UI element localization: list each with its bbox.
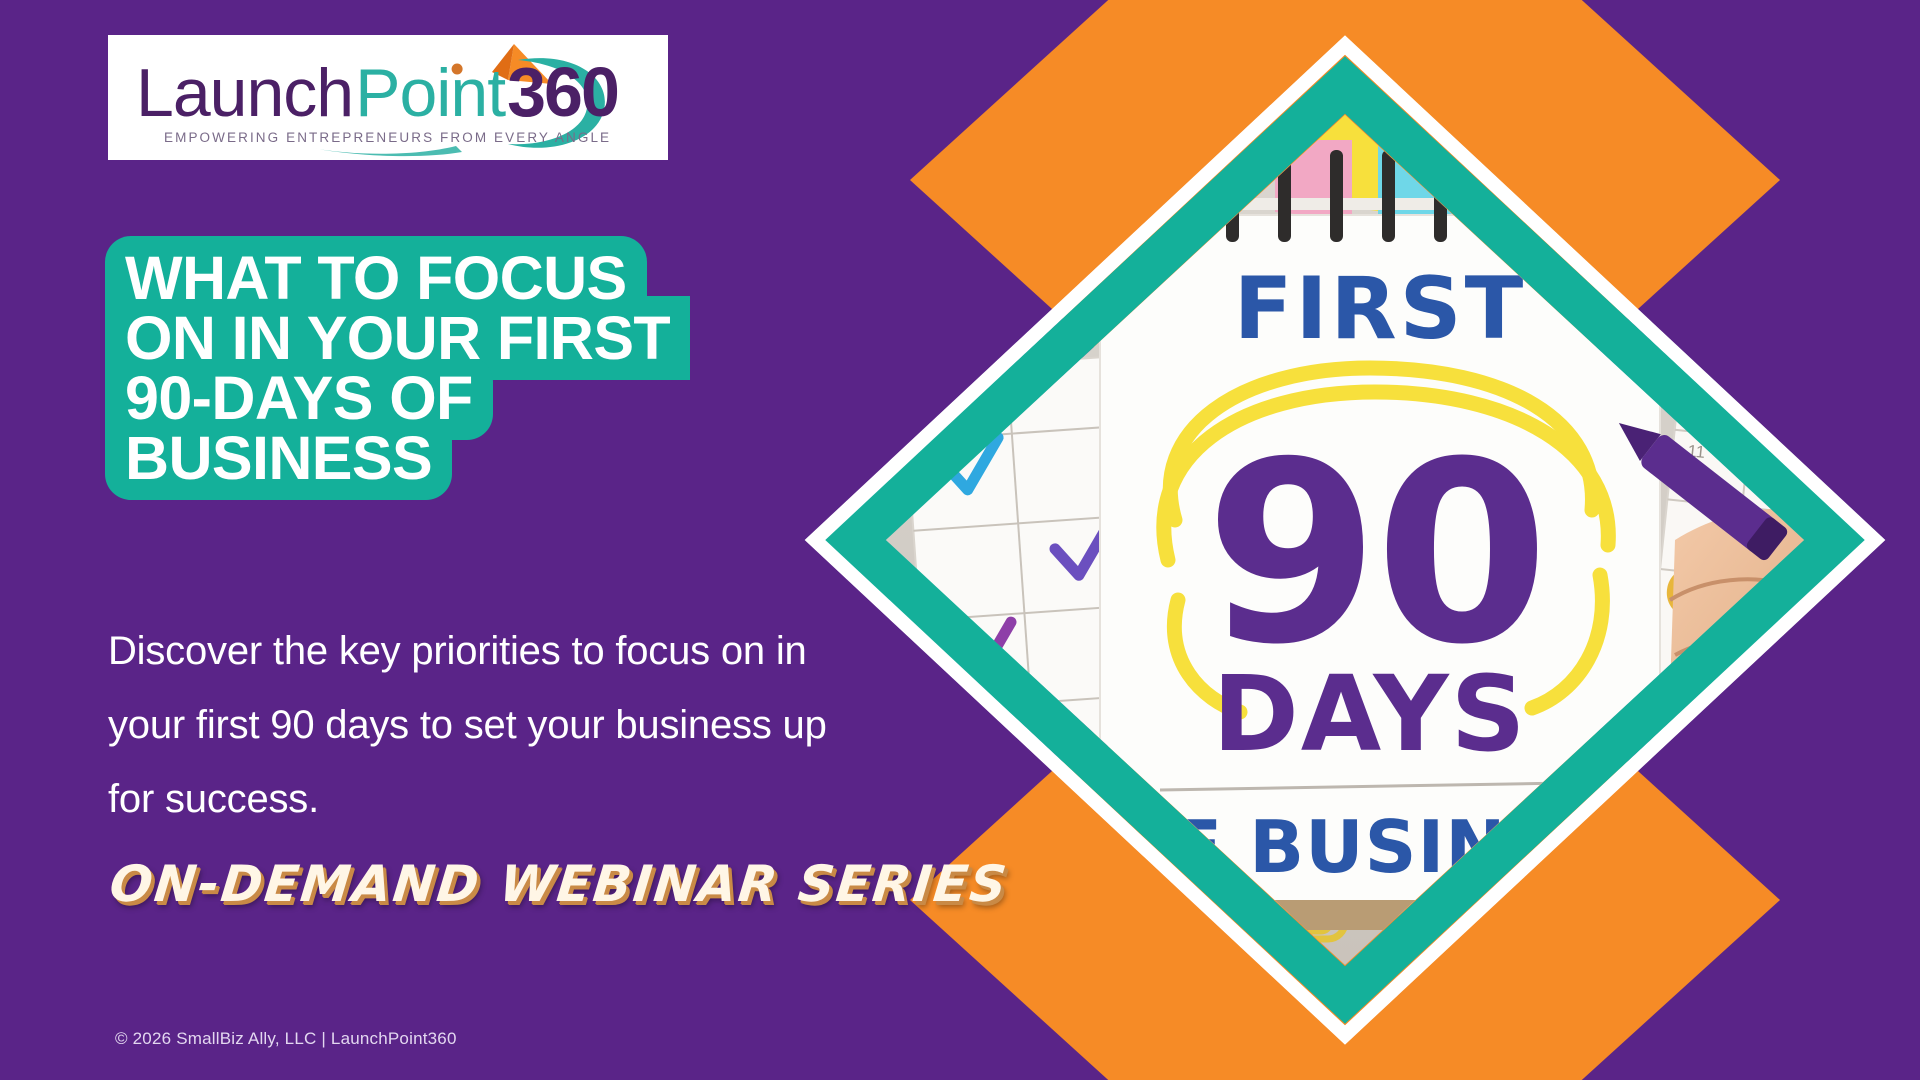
logo-dot-icon bbox=[451, 63, 462, 74]
page-title: WHAT TO FOCUS ON IN YOUR FIRST 90-DAYS O… bbox=[105, 248, 805, 488]
headline-text-3: 90-DAYS OF bbox=[105, 368, 493, 428]
logo-text-360: 360 bbox=[507, 53, 618, 131]
photo-text-first: FIRST bbox=[1234, 259, 1527, 359]
headline-line-1: WHAT TO FOCUS bbox=[105, 248, 805, 308]
webinar-series-subtitle: ON-DEMAND WEBINAR SERIES bbox=[107, 855, 1011, 913]
photo-text-days: DAYS bbox=[1212, 653, 1527, 775]
headline-line-2: ON IN YOUR FIRST bbox=[105, 308, 805, 368]
launchpoint360-logo-mark: Launch Point 360 EMPOWERING ENTREPRENEUR… bbox=[116, 38, 661, 158]
left-content-panel: Launch Point 360 EMPOWERING ENTREPRENEUR… bbox=[0, 0, 960, 1080]
logo-text-point: Point bbox=[355, 55, 506, 131]
brand-logo: Launch Point 360 EMPOWERING ENTREPRENEUR… bbox=[108, 35, 668, 160]
headline-text-4: BUSINESS bbox=[105, 428, 452, 488]
headline-line-3: 90-DAYS OF bbox=[105, 368, 805, 428]
copyright-footer: © 2026 SmallBiz Ally, LLC | LaunchPoint3… bbox=[115, 1029, 457, 1049]
logo-text-launch: Launch bbox=[136, 55, 353, 131]
body-paragraph: Discover the key priorities to focus on … bbox=[108, 614, 828, 836]
headline-text-1: WHAT TO FOCUS bbox=[105, 248, 647, 308]
logo-tagline: EMPOWERING ENTREPRENEURS FROM EVERY ANGL… bbox=[164, 130, 611, 145]
headline-text-2: ON IN YOUR FIRST bbox=[105, 308, 690, 368]
